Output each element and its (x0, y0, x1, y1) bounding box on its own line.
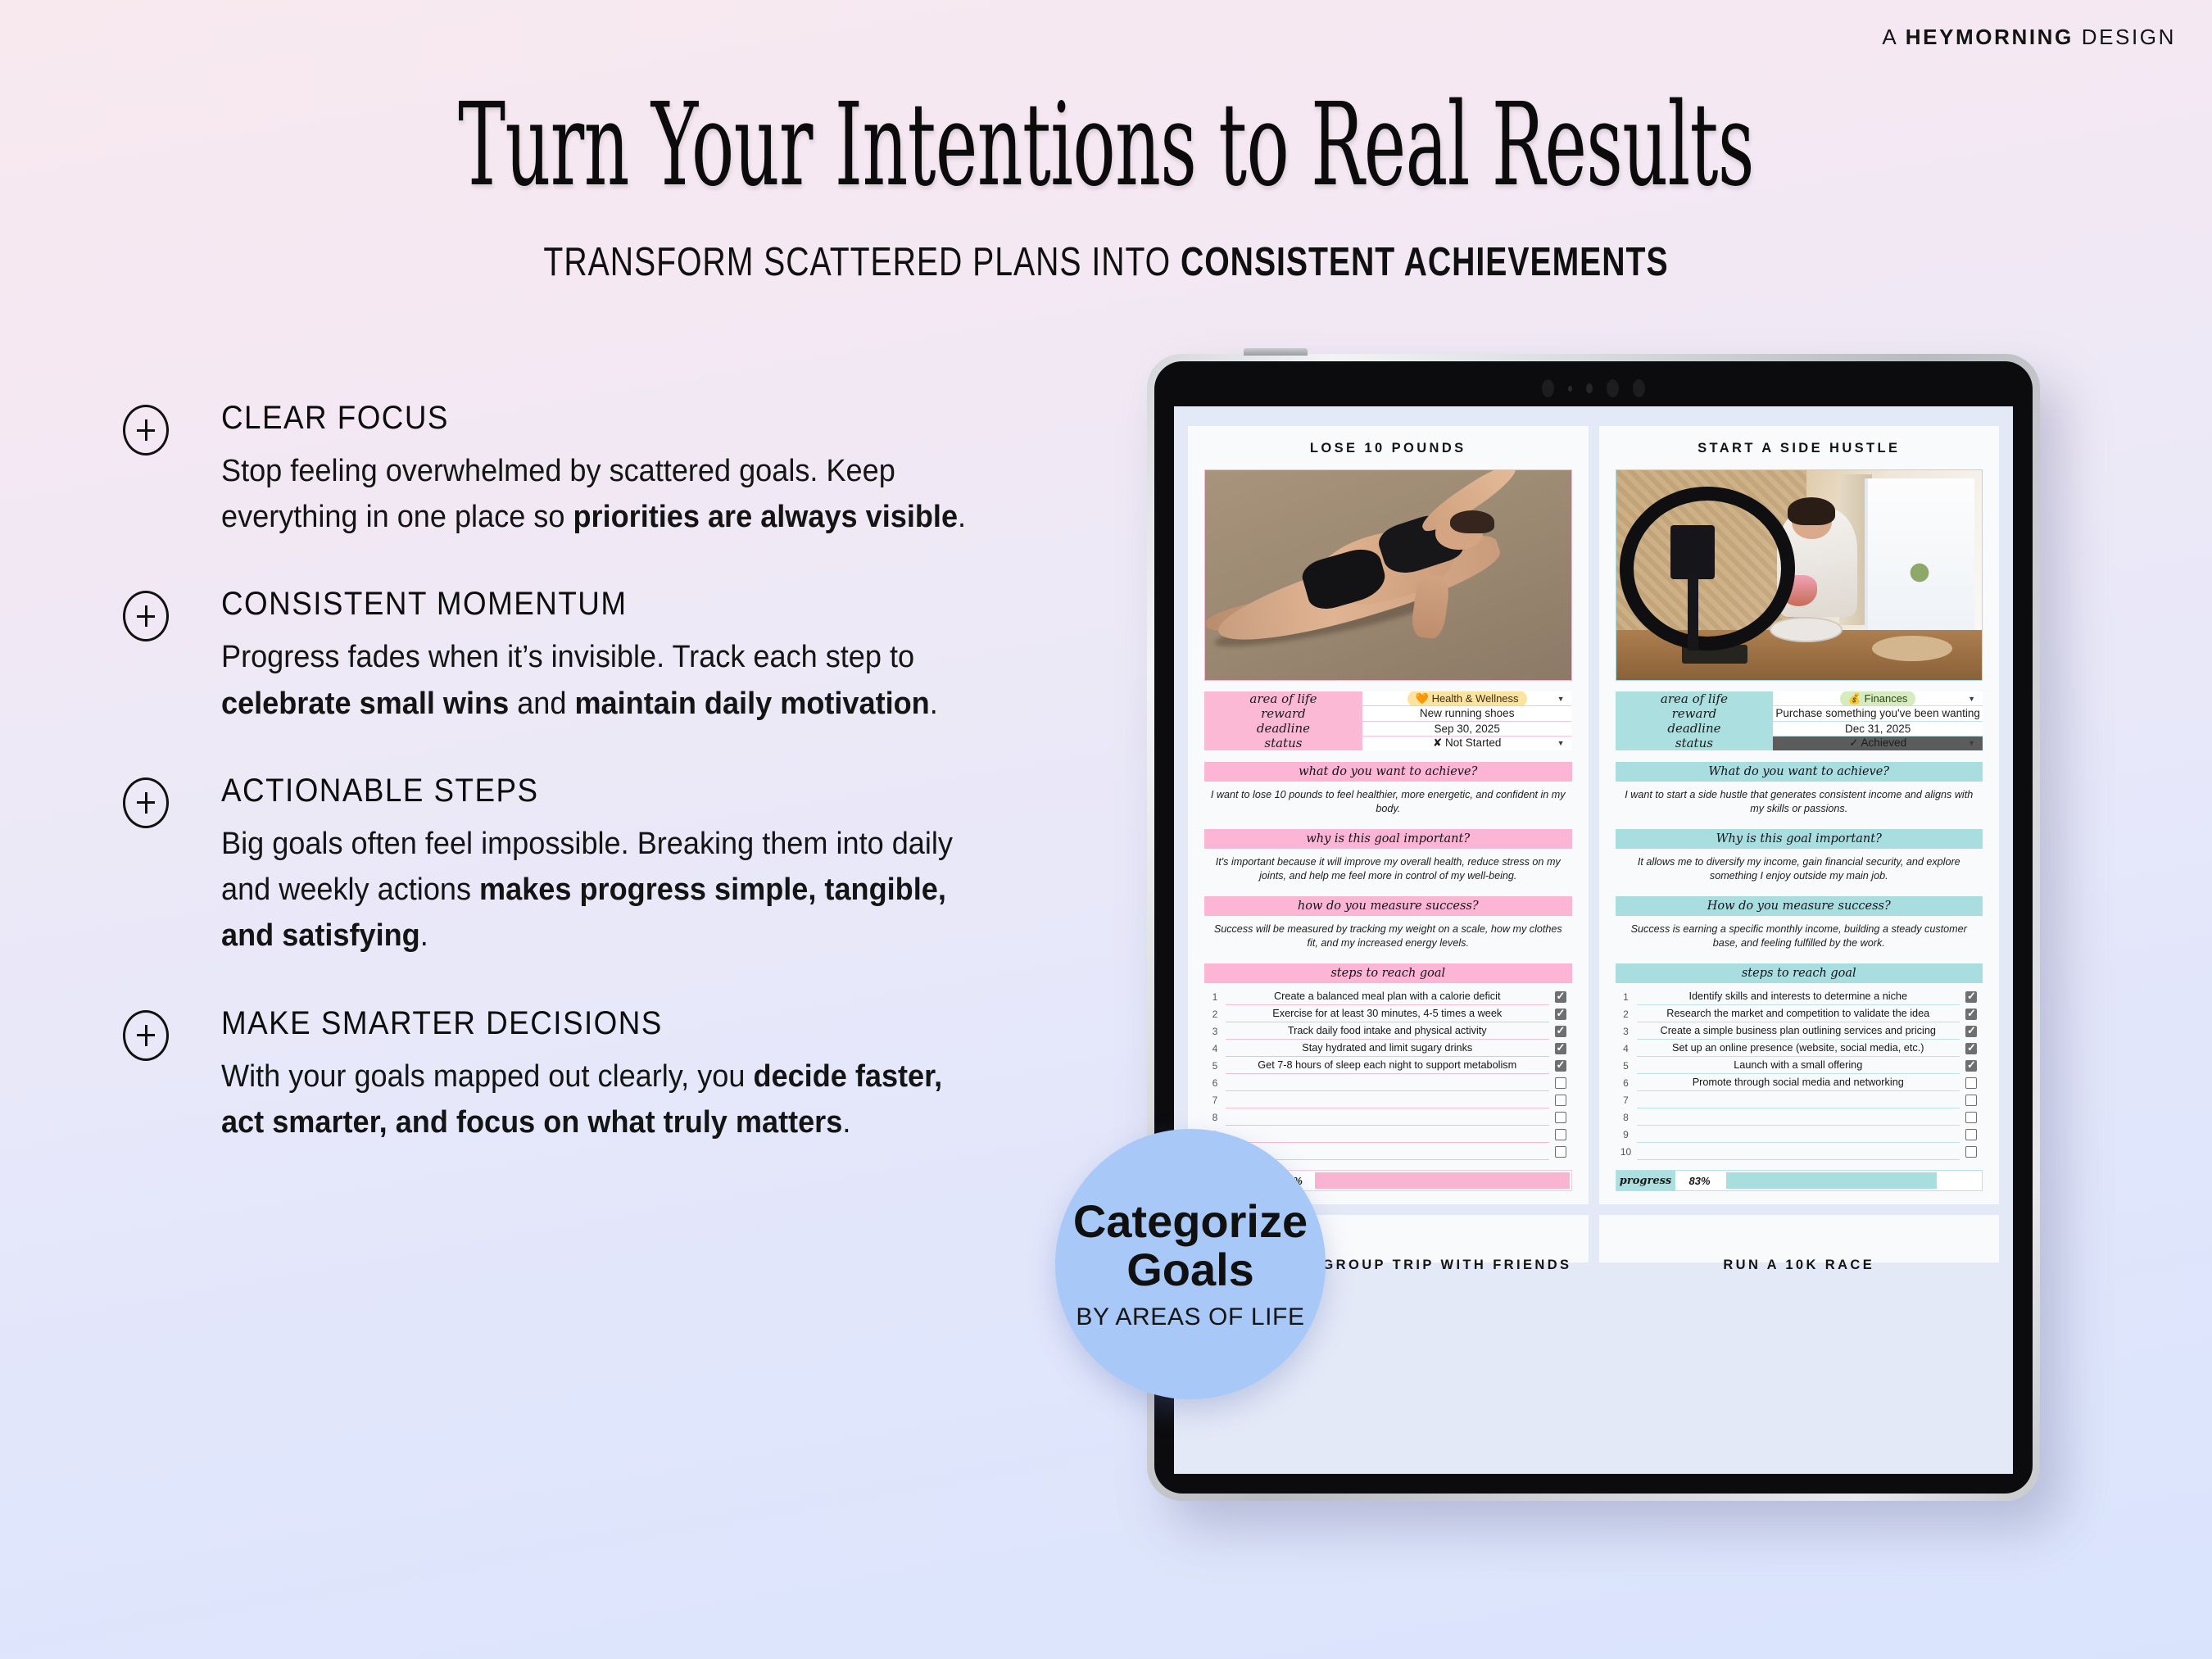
page-title: Turn Your Intentions to Real Results (420, 88, 1792, 203)
step-number: 1 (1204, 991, 1226, 1003)
step-number: 3 (1204, 1026, 1226, 1037)
reward-field[interactable]: Purchase something you've been wanting (1773, 706, 1983, 721)
chevron-down-icon[interactable]: ▼ (1968, 739, 1975, 747)
step-number: 6 (1616, 1077, 1637, 1089)
meta-label-column: area of liferewarddeadlinestatus (1204, 691, 1362, 750)
progress-percent: 83% (1675, 1171, 1725, 1190)
meta-label: deadline (1204, 721, 1362, 736)
checkbox-icon[interactable] (1965, 991, 1977, 1003)
reward-field[interactable]: New running shoes (1362, 706, 1572, 721)
step-text[interactable] (1637, 1143, 1960, 1160)
step-text[interactable]: Identify skills and interests to determi… (1637, 988, 1960, 1005)
goal-photo (1204, 469, 1572, 681)
step-checkbox-cell[interactable] (1960, 1129, 1983, 1140)
step-number: 4 (1616, 1043, 1637, 1054)
step-checkbox-cell[interactable] (1549, 1026, 1572, 1037)
step-row[interactable]: 5Launch with a small offering (1616, 1057, 1983, 1074)
goal-card: START A SIDE HUSTLEarea of liferewarddea… (1599, 426, 2000, 1204)
tablet-camera-array (1542, 379, 1645, 397)
progress-track (1313, 1171, 1571, 1190)
feature-title: CONSISTENT MOMENTUM (221, 586, 952, 623)
step-checkbox-cell[interactable] (1549, 1112, 1572, 1123)
chevron-down-icon[interactable]: ▼ (1968, 695, 1975, 703)
step-number: 10 (1616, 1146, 1637, 1158)
goal-meta-table: area of liferewarddeadlinestatus🧡 Health… (1204, 691, 1572, 750)
deadline-field[interactable]: Dec 31, 2025 (1773, 722, 1983, 737)
steps-header: steps to reach goal (1616, 963, 1983, 983)
step-checkbox-cell[interactable] (1549, 1077, 1572, 1089)
status-field[interactable]: ✘ Not Started▼ (1362, 737, 1572, 750)
goal-card-grid: LOSE 10 POUNDSarea of liferewarddeadline… (1174, 406, 2013, 1204)
checkbox-icon[interactable] (1965, 1060, 1977, 1072)
step-text[interactable] (1226, 1091, 1549, 1108)
checkbox-icon[interactable] (1555, 1043, 1566, 1054)
question-header: How do you measure success? (1616, 896, 1983, 916)
subtitle-bold: CONSISTENT ACHIEVEMENTS (1181, 240, 1669, 284)
brand-prefix: A (1882, 25, 1905, 49)
meta-label-column: area of liferewarddeadlinestatus (1616, 691, 1774, 750)
meta-label: area of life (1616, 691, 1774, 706)
meta-label: status (1204, 736, 1362, 750)
chevron-down-icon[interactable]: ▼ (1557, 739, 1565, 747)
camera-lens-icon (1633, 379, 1645, 397)
step-checkbox-cell[interactable] (1960, 1077, 1983, 1089)
steps-list: 1Identify skills and interests to determ… (1616, 988, 1983, 1160)
step-row[interactable]: 1Identify skills and interests to determ… (1616, 988, 1983, 1005)
steps-list: 1Create a balanced meal plan with a calo… (1204, 988, 1572, 1160)
checkbox-icon[interactable] (1555, 1009, 1566, 1020)
step-checkbox-cell[interactable] (1549, 1060, 1572, 1072)
camera-lens-icon (1542, 379, 1554, 397)
meta-label: reward (1204, 706, 1362, 721)
step-number: 7 (1204, 1095, 1226, 1106)
checkbox-icon[interactable] (1555, 1026, 1566, 1037)
step-checkbox-cell[interactable] (1960, 1095, 1983, 1106)
plus-icon (123, 1010, 169, 1061)
badge-title-line2: Goals (1126, 1245, 1254, 1294)
chevron-down-icon[interactable]: ▼ (1557, 695, 1565, 703)
progress-fill (1315, 1172, 1570, 1189)
step-row[interactable]: 4Set up an online presence (website, soc… (1616, 1040, 1983, 1057)
question-answer: Success will be measured by tracking my … (1204, 916, 1572, 952)
checkbox-icon[interactable] (1965, 1129, 1977, 1140)
step-checkbox-cell[interactable] (1549, 1043, 1572, 1054)
step-text[interactable]: Research the market and competition to v… (1637, 1005, 1960, 1022)
step-text[interactable]: Create a simple business plan outlining … (1637, 1022, 1960, 1040)
brand-suffix: DESIGN (2074, 25, 2176, 49)
question-header: what do you want to achieve? (1204, 762, 1572, 782)
meta-label: deadline (1616, 721, 1774, 736)
step-number: 8 (1616, 1112, 1637, 1123)
page-subtitle: TRANSFORM SCATTERED PLANS INTO CONSISTEN… (221, 239, 1991, 285)
step-row[interactable]: 6 (1204, 1074, 1572, 1091)
plus-icon (123, 405, 169, 456)
meta-label: reward (1616, 706, 1774, 721)
step-row[interactable]: 7 (1616, 1091, 1983, 1108)
step-row[interactable]: 9 (1616, 1126, 1983, 1143)
step-row[interactable]: 8 (1616, 1108, 1983, 1126)
status-field[interactable]: ✓ Achieved▼ (1773, 737, 1983, 750)
step-text[interactable] (1226, 1108, 1549, 1126)
feature-item: CONSISTENT MOMENTUMProgress fades when i… (123, 586, 1016, 726)
step-row[interactable]: 3Create a simple business plan outlining… (1616, 1022, 1983, 1040)
step-number: 2 (1616, 1009, 1637, 1020)
checkbox-icon[interactable] (1555, 991, 1566, 1003)
step-row[interactable]: 5Get 7-8 hours of sleep each night to su… (1204, 1057, 1572, 1074)
step-checkbox-cell[interactable] (1960, 1112, 1983, 1123)
goal-card: LOSE 10 POUNDSarea of liferewarddeadline… (1188, 426, 1589, 1204)
step-row[interactable]: 7 (1204, 1091, 1572, 1108)
progress-track (1725, 1171, 1983, 1190)
step-number: 3 (1616, 1026, 1637, 1037)
progress-fill (1726, 1172, 1938, 1189)
question-answer: Success is earning a specific monthly in… (1616, 916, 1983, 952)
question-header: how do you measure success? (1204, 896, 1572, 916)
step-checkbox-cell[interactable] (1960, 991, 1983, 1003)
feature-title: CLEAR FOCUS (221, 400, 952, 437)
feature-title: ACTIONABLE STEPS (221, 773, 952, 809)
checkbox-icon[interactable] (1965, 1146, 1977, 1158)
step-number: 1 (1616, 991, 1637, 1003)
step-number: 9 (1616, 1129, 1637, 1140)
feature-item: MAKE SMARTER DECISIONSWith your goals ma… (123, 1005, 1016, 1145)
brand-credit: A HEYMORNING DESIGN (1882, 25, 2176, 50)
meta-value-column: 💰 Finances▼Purchase something you've bee… (1773, 691, 1983, 750)
feature-item: ACTIONABLE STEPSBig goals often feel imp… (123, 773, 1016, 959)
area-of-life-field[interactable]: 🧡 Health & Wellness▼ (1362, 691, 1572, 706)
badge-subtitle: BY AREAS OF LIFE (1076, 1303, 1304, 1331)
step-number: 5 (1616, 1060, 1637, 1072)
categorize-goals-badge: Categorize Goals BY AREAS OF LIFE (1055, 1129, 1326, 1399)
checkbox-icon[interactable] (1555, 1112, 1566, 1123)
sensor-dot-icon (1586, 383, 1593, 393)
question-answer: It allows me to diversify my income, gai… (1616, 849, 1983, 885)
feature-title: MAKE SMARTER DECISIONS (221, 1005, 952, 1042)
step-row[interactable]: 6Promote through social media and networ… (1616, 1074, 1983, 1091)
step-number: 6 (1204, 1077, 1226, 1089)
goal-card-title: LOSE 10 POUNDS (1204, 441, 1572, 456)
checkbox-icon[interactable] (1555, 1129, 1566, 1140)
step-text[interactable]: Stay hydrated and limit sugary drinks (1226, 1040, 1549, 1057)
checkbox-icon[interactable] (1555, 1077, 1566, 1089)
checkbox-icon[interactable] (1965, 1112, 1977, 1123)
step-text[interactable] (1226, 1074, 1549, 1091)
meta-label: status (1616, 736, 1774, 750)
step-checkbox-cell[interactable] (1960, 1026, 1983, 1037)
feature-description: Progress fades when it’s invisible. Trac… (221, 634, 977, 726)
area-of-life-field[interactable]: 💰 Finances▼ (1773, 691, 1983, 706)
feature-item: CLEAR FOCUSStop feeling overwhelmed by s… (123, 400, 1016, 540)
plus-icon (123, 777, 169, 828)
step-checkbox-cell[interactable] (1549, 1146, 1572, 1158)
goal-photo (1616, 469, 1983, 681)
step-checkbox-cell[interactable] (1960, 1009, 1983, 1020)
area-of-life-pill[interactable]: 🧡 Health & Wellness (1407, 691, 1527, 706)
sensor-dot-icon (1568, 386, 1572, 392)
checkbox-icon[interactable] (1965, 1095, 1977, 1106)
step-text[interactable]: Get 7-8 hours of sleep each night to sup… (1226, 1057, 1549, 1074)
step-checkbox-cell[interactable] (1549, 1009, 1572, 1020)
goal-card-title: RUN A 10K RACE (1616, 1258, 1983, 1273)
step-text[interactable] (1637, 1108, 1960, 1126)
question-answer: It's important because it will improve m… (1204, 849, 1572, 885)
tablet-power-button (1244, 348, 1308, 356)
step-checkbox-cell[interactable] (1549, 991, 1572, 1003)
goal-meta-table: area of liferewarddeadlinestatus💰 Financ… (1616, 691, 1983, 750)
step-number: 2 (1204, 1009, 1226, 1020)
question-answer: I want to start a side hustle that gener… (1616, 782, 1983, 818)
meta-value-column: 🧡 Health & Wellness▼New running shoesSep… (1362, 691, 1572, 750)
step-row[interactable]: 9 (1204, 1126, 1572, 1143)
question-answer: I want to lose 10 pounds to feel healthi… (1204, 782, 1572, 818)
checkbox-icon[interactable] (1965, 1026, 1977, 1037)
checkbox-icon[interactable] (1555, 1146, 1566, 1158)
question-header: What do you want to achieve? (1616, 762, 1983, 782)
feature-list: CLEAR FOCUSStop feeling overwhelmed by s… (123, 400, 1016, 1191)
step-checkbox-cell[interactable] (1960, 1146, 1983, 1158)
checkbox-icon[interactable] (1965, 1077, 1977, 1089)
brand-name: HEYMORNING (1906, 25, 2074, 49)
step-checkbox-cell[interactable] (1549, 1129, 1572, 1140)
step-row[interactable]: 3Track daily food intake and physical ac… (1204, 1022, 1572, 1040)
goal-card-partial: RUN A 10K RACE (1599, 1215, 2000, 1262)
badge-title-line1: Categorize (1073, 1197, 1308, 1245)
step-checkbox-cell[interactable] (1960, 1060, 1983, 1072)
step-text[interactable] (1226, 1126, 1549, 1143)
step-row[interactable]: 8 (1204, 1108, 1572, 1126)
deadline-field[interactable]: Sep 30, 2025 (1362, 722, 1572, 737)
feature-description: Stop feeling overwhelmed by scattered go… (221, 448, 977, 540)
question-header: why is this goal important? (1204, 829, 1572, 849)
step-text[interactable]: Set up an online presence (website, soci… (1637, 1040, 1960, 1057)
step-text[interactable]: Promote through social media and network… (1637, 1074, 1960, 1091)
step-number: 4 (1204, 1043, 1226, 1054)
step-text[interactable]: Launch with a small offering (1637, 1057, 1960, 1074)
step-text[interactable]: Create a balanced meal plan with a calor… (1226, 988, 1549, 1005)
steps-header: steps to reach goal (1204, 963, 1572, 983)
step-text[interactable]: Track daily food intake and physical act… (1226, 1022, 1549, 1040)
step-number: 7 (1616, 1095, 1637, 1106)
step-text[interactable] (1637, 1091, 1960, 1108)
area-of-life-pill[interactable]: 💰 Finances (1840, 691, 1916, 706)
progress-bar: progress83% (1616, 1170, 1983, 1191)
feature-description: Big goals often feel impossible. Breakin… (221, 821, 977, 959)
step-checkbox-cell[interactable] (1960, 1043, 1983, 1054)
step-text[interactable] (1637, 1126, 1960, 1143)
meta-label: area of life (1204, 691, 1362, 706)
checkbox-icon[interactable] (1555, 1095, 1566, 1106)
plus-icon (123, 591, 169, 641)
question-header: Why is this goal important? (1616, 829, 1983, 849)
checkbox-icon[interactable] (1965, 1043, 1977, 1054)
camera-lens-icon (1607, 379, 1619, 397)
step-row[interactable]: 4Stay hydrated and limit sugary drinks (1204, 1040, 1572, 1057)
step-text[interactable]: Exercise for at least 30 minutes, 4-5 ti… (1226, 1005, 1549, 1022)
feature-description: With your goals mapped out clearly, you … (221, 1054, 977, 1145)
step-number: 8 (1204, 1112, 1226, 1123)
goal-card-title: START A SIDE HUSTLE (1616, 441, 1983, 456)
step-row[interactable]: 10 (1616, 1143, 1983, 1160)
checkbox-icon[interactable] (1555, 1060, 1566, 1072)
subtitle-normal: TRANSFORM SCATTERED PLANS INTO (543, 240, 1181, 284)
step-row[interactable]: 2Exercise for at least 30 minutes, 4-5 t… (1204, 1005, 1572, 1022)
step-number: 5 (1204, 1060, 1226, 1072)
step-row[interactable]: 2Research the market and competition to … (1616, 1005, 1983, 1022)
step-checkbox-cell[interactable] (1549, 1095, 1572, 1106)
checkbox-icon[interactable] (1965, 1009, 1977, 1020)
step-row[interactable]: 1Create a balanced meal plan with a calo… (1204, 988, 1572, 1005)
progress-label: progress (1616, 1171, 1675, 1190)
